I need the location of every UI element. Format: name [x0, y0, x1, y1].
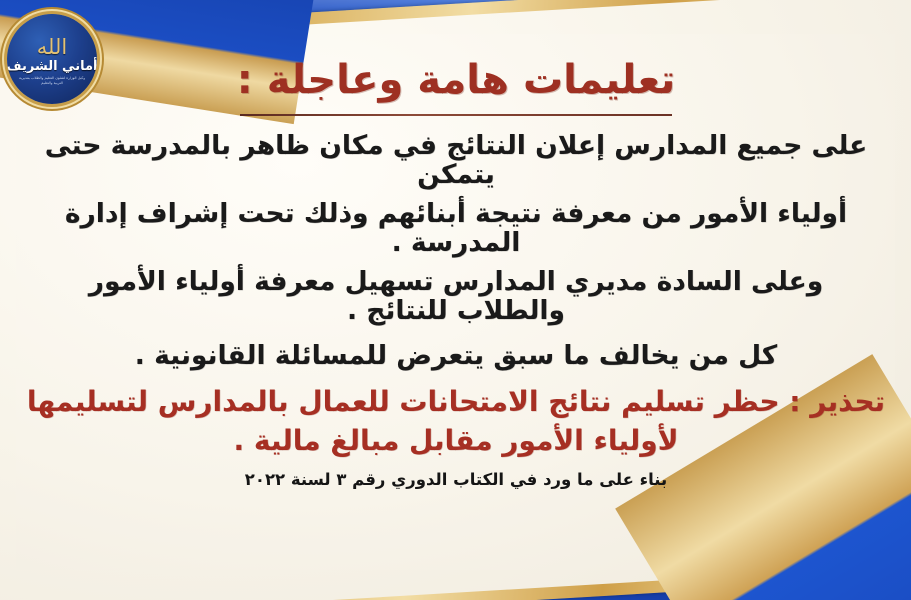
- title-underline-divider: [240, 114, 672, 116]
- page-title: تعليمات هامة وعاجلة :: [22, 54, 890, 106]
- body-line-3: وعلى السادة مديري المدارس تسهيل معرفة أو…: [22, 267, 890, 325]
- warning-line-1: تحذير : حظر تسليم نتائج الامتحانات للعما…: [22, 386, 890, 417]
- body-line-2: أولياء الأمور من معرفة نتيجة أبنائهم وذل…: [22, 199, 890, 257]
- warning-line-2: لأولياء الأمور مقابل مبالغ مالية .: [22, 425, 890, 456]
- announcement-poster: الله أماني الشريف وكيل الوزارة لشئون الت…: [0, 0, 911, 600]
- body-line-1: على جميع المدارس إعلان النتائج في مكان ظ…: [22, 131, 890, 189]
- poster-content: تعليمات هامة وعاجلة : على جميع المدارس إ…: [22, 30, 890, 575]
- body-line-4: كل من يخالف ما سبق يتعرض للمسائلة القانو…: [22, 341, 890, 370]
- body-paragraph-block: على جميع المدارس إعلان النتائج في مكان ظ…: [22, 131, 890, 370]
- warning-block: تحذير : حظر تسليم نتائج الامتحانات للعما…: [22, 386, 890, 456]
- footer-reference-note: بناء على ما ورد في الكتاب الدوري رقم ٣ ل…: [22, 470, 890, 490]
